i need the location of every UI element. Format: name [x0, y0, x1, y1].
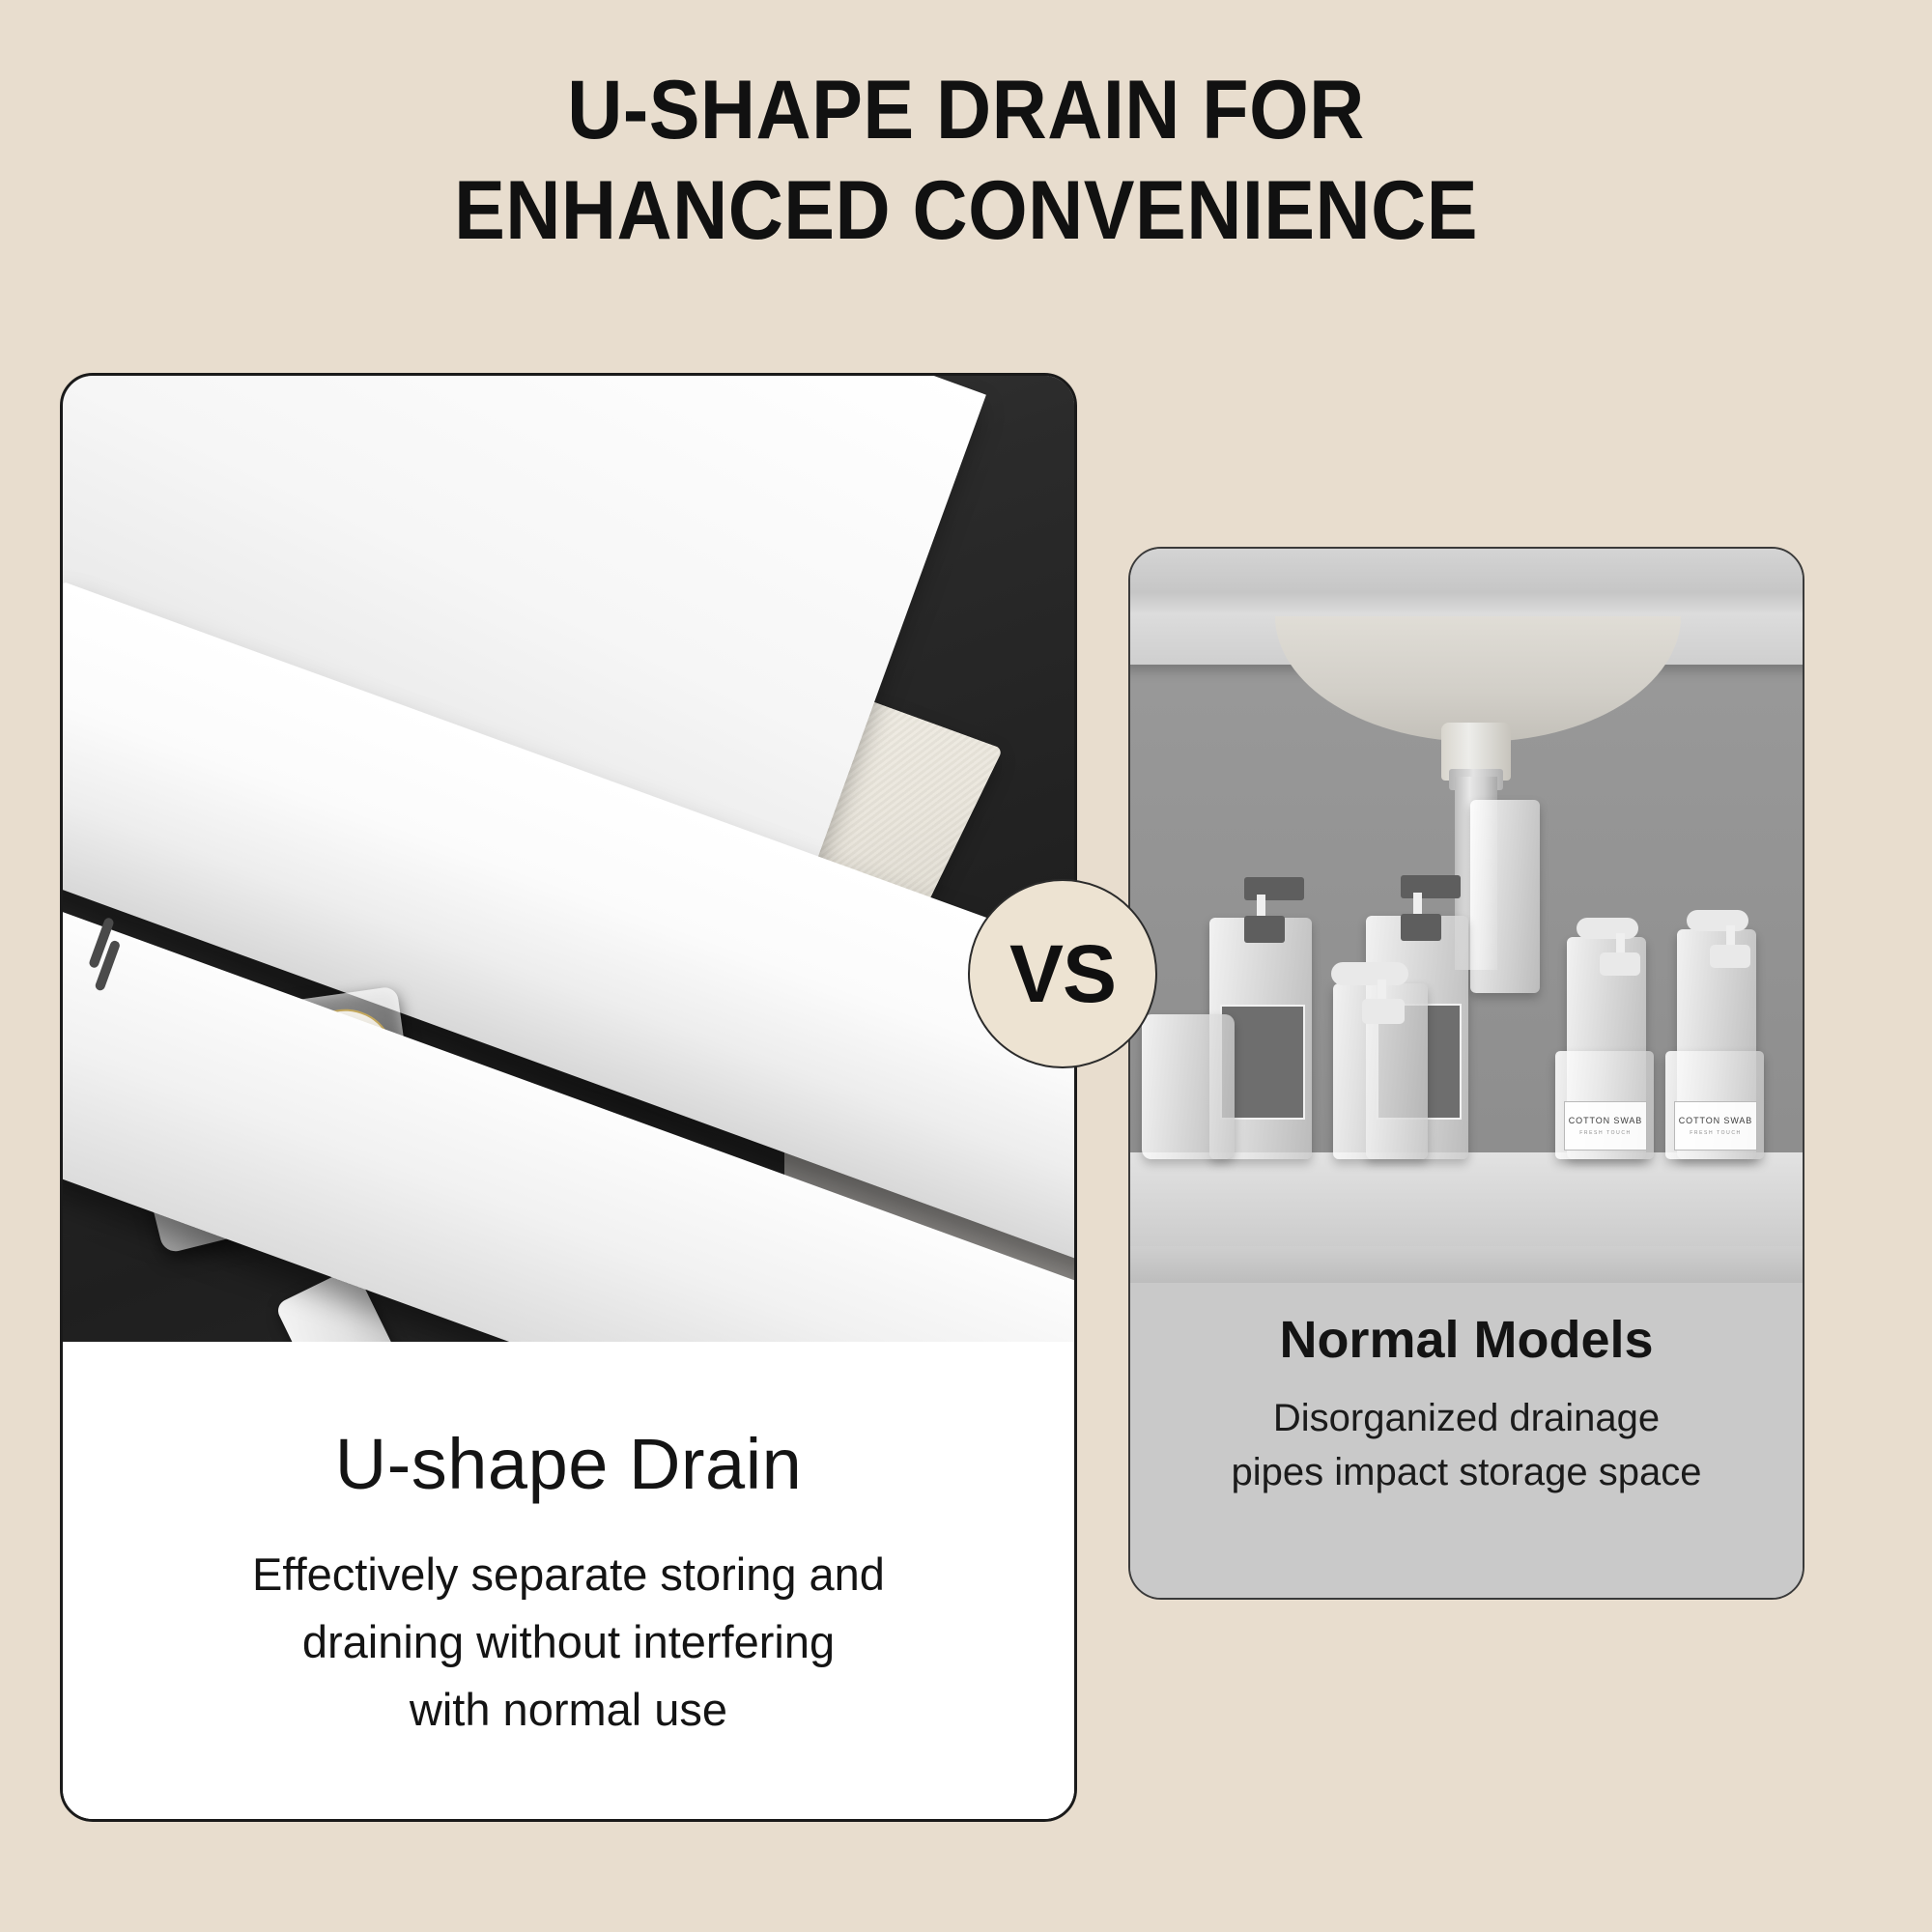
cabinet-shelf-front — [1130, 1246, 1803, 1283]
right-caption-title: Normal Models — [1130, 1310, 1803, 1370]
cotton-swab-box-2: COTTON SWAB FRESH TOUCH — [1665, 1051, 1764, 1159]
right-caption: Normal Models Disorganized drainage pipe… — [1130, 1283, 1803, 1600]
pump-head-4 — [1577, 918, 1638, 939]
right-caption-body: Disorganized drainage pipes impact stora… — [1130, 1391, 1803, 1499]
tissue-box — [1142, 1014, 1235, 1159]
pump-collar-3 — [1362, 999, 1405, 1024]
left-caption-body-line-2: draining without interfering — [63, 1608, 1074, 1676]
pump-head-1 — [1244, 877, 1304, 900]
cotton-swab-box-1: COTTON SWAB FRESH TOUCH — [1555, 1051, 1654, 1159]
right-product-photo: COTTON SWAB FRESH TOUCH COTTON SWAB FRES… — [1130, 549, 1803, 1283]
pump-collar-1 — [1244, 916, 1285, 943]
cotton-swab-box-2-label: COTTON SWAB FRESH TOUCH — [1674, 1101, 1757, 1151]
cotton-swab-box-2-title: COTTON SWAB — [1679, 1116, 1752, 1125]
right-caption-body-line-1: Disorganized drainage — [1130, 1391, 1803, 1445]
pump-head-2 — [1401, 875, 1461, 898]
cotton-swab-box-1-sub: FRESH TOUCH — [1579, 1130, 1632, 1136]
pump-collar-5 — [1710, 945, 1750, 968]
cotton-swab-box-1-label: COTTON SWAB FRESH TOUCH — [1564, 1101, 1647, 1151]
pump-collar-2 — [1401, 914, 1441, 941]
pump-stem-2 — [1413, 893, 1422, 916]
left-caption-title: U-shape Drain — [63, 1425, 1074, 1504]
page-title-line-2: ENHANCED CONVENIENCE — [77, 160, 1855, 261]
left-caption-body-line-1: Effectively separate storing and — [63, 1541, 1074, 1608]
cotton-swab-box-2-sub: FRESH TOUCH — [1690, 1130, 1742, 1136]
page-title: U-SHAPE DRAIN FOR ENHANCED CONVENIENCE — [77, 60, 1855, 261]
left-caption: U-shape Drain Effectively separate stori… — [63, 1342, 1074, 1822]
pump-head-3 — [1331, 962, 1408, 985]
left-comparison-card: COTTON SWAB FRESH TOUCH SWAB STICK CRÈME… — [60, 373, 1077, 1822]
left-caption-body: Effectively separate storing and drainin… — [63, 1541, 1074, 1744]
pump-collar-4 — [1600, 952, 1640, 976]
page-title-line-1: U-SHAPE DRAIN FOR — [77, 60, 1855, 160]
left-product-photo: COTTON SWAB FRESH TOUCH SWAB STICK CRÈME… — [63, 376, 1074, 1342]
pump-head-5 — [1687, 910, 1748, 931]
pump-stem-1 — [1257, 895, 1265, 918]
vs-badge: VS — [968, 879, 1157, 1068]
right-caption-body-line-2: pipes impact storage space — [1130, 1445, 1803, 1499]
left-caption-body-line-3: with normal use — [63, 1676, 1074, 1744]
right-comparison-card: COTTON SWAB FRESH TOUCH COTTON SWAB FRES… — [1128, 547, 1804, 1600]
metal-canister — [1470, 800, 1540, 993]
cotton-swab-box-1-title: COTTON SWAB — [1569, 1116, 1642, 1125]
vs-badge-label: VS — [1009, 933, 1116, 1014]
